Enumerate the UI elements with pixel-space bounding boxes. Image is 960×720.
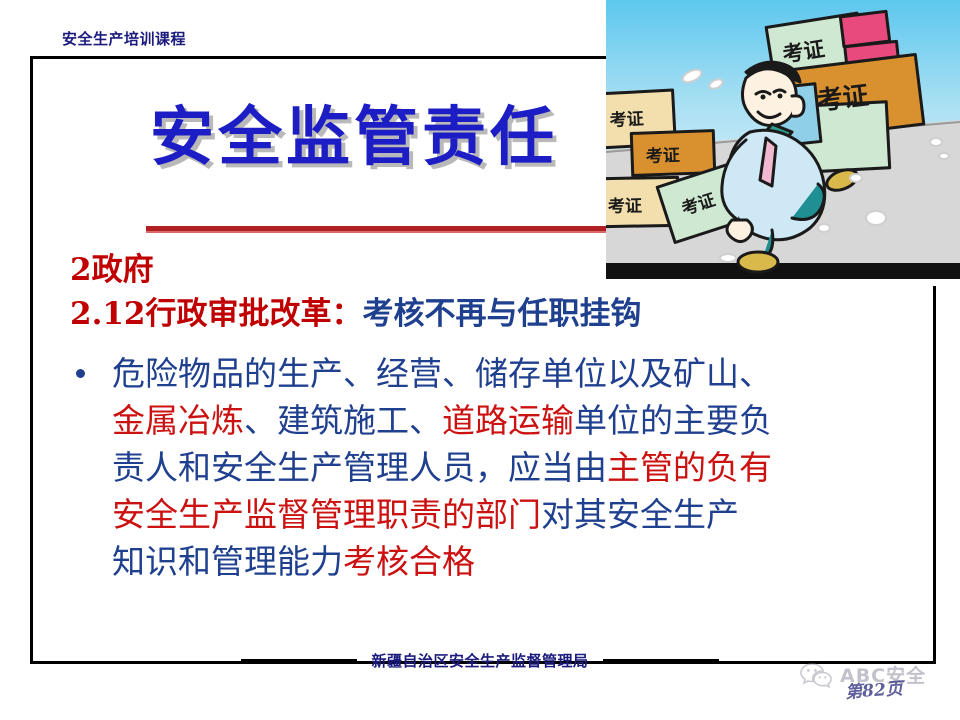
course-header-label: 安全生产培训课程 — [62, 28, 186, 49]
slide-canvas: 安全生产培训课程 安全监管责任 2政府 2.12行政审批改革：考核不再与任职挂钩… — [0, 0, 960, 720]
footer-organization-label: 新疆自治区安全生产监督管理局 — [371, 650, 588, 671]
svg-text:考证: 考证 — [644, 145, 680, 167]
paragraph-line-4: 安全生产监督管理职责的部门对其安全生产 — [112, 491, 930, 538]
bullet-dot-icon — [76, 369, 85, 378]
line1-blue: 危险物品的生产、经营、储存单位以及矿山、 — [112, 354, 772, 393]
line5-red: 考核合格 — [343, 542, 475, 581]
slide-page-number: 第82页 — [844, 674, 903, 703]
slide-body: 2政府 2.12行政审批改革：考核不再与任职挂钩 危险物品的生产、经营、储存单位… — [70, 248, 930, 585]
line2-blue-a: 、建筑施工、 — [244, 401, 442, 440]
footer-rule-right — [603, 659, 719, 662]
line3-red: 主管的负有 — [607, 448, 772, 487]
wechat-icon — [800, 662, 834, 688]
paragraph-line-5: 知识和管理能力考核合格 — [112, 538, 930, 585]
paragraph-line-1: 危险物品的生产、经营、储存单位以及矿山、 — [112, 350, 930, 397]
footer-rule-left — [241, 659, 357, 662]
line5-blue: 知识和管理能力 — [112, 542, 343, 581]
heading-subsection-red: 2.12行政审批改革： — [70, 296, 363, 332]
certification-cartoon-image: 考证 考证 考证 考证 考证 考证 — [606, 0, 960, 284]
bullet-paragraph: 危险物品的生产、经营、储存单位以及矿山、 金属冶炼、建筑施工、道路运输单位的主要… — [112, 350, 930, 585]
svg-text:考证: 考证 — [607, 195, 642, 217]
svg-text:考证: 考证 — [815, 81, 870, 117]
heading-subsection-blue: 考核不再与任职挂钩 — [363, 296, 642, 332]
line3-blue: 责人和安全生产管理人员，应当由 — [112, 448, 607, 487]
line2-blue-b: 单位的主要负 — [574, 401, 772, 440]
line2-red-a: 金属冶炼 — [112, 401, 244, 440]
bullet-item: 危险物品的生产、经营、储存单位以及矿山、 金属冶炼、建筑施工、道路运输单位的主要… — [70, 350, 930, 585]
heading-subsection: 2.12行政审批改革：考核不再与任职挂钩 — [70, 292, 930, 336]
svg-text:考证: 考证 — [608, 108, 644, 131]
line4-red: 安全生产监督管理职责的部门 — [112, 495, 541, 534]
line4-blue: 对其安全生产 — [541, 495, 739, 534]
paragraph-line-2: 金属冶炼、建筑施工、道路运输单位的主要负 — [112, 397, 930, 444]
line2-red-b: 道路运输 — [442, 401, 574, 440]
paragraph-line-3: 责人和安全生产管理人员，应当由主管的负有 — [112, 444, 930, 491]
